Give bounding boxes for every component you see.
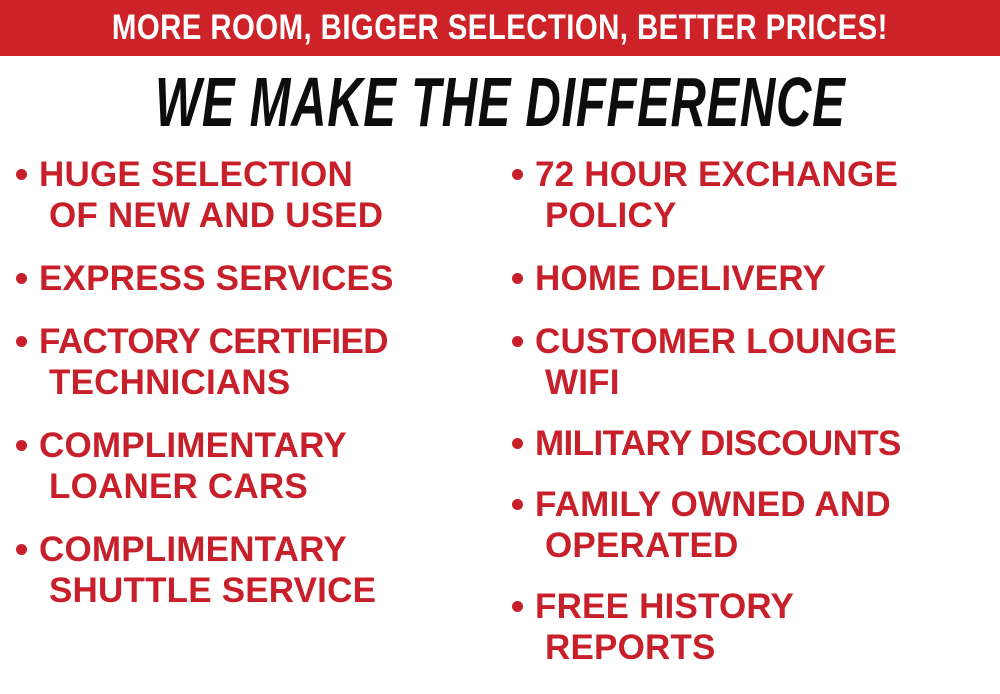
feature-item-line: FACTORY CERTIFIED [39, 321, 496, 362]
feature-list-item: COMPLIMENTARYSHUTTLE SERVICE [16, 529, 496, 611]
feature-item-line: CUSTOMER LOUNGE [535, 321, 998, 362]
bullet-dot-icon [512, 499, 523, 510]
feature-item-lines: COMPLIMENTARYLOANER CARS [39, 425, 496, 507]
feature-item-lines: FACTORY CERTIFIEDTECHNICIANS [39, 321, 496, 403]
feature-item-line: LOANER CARS [39, 466, 496, 507]
bullet-dot-icon [16, 440, 27, 451]
bullet-dot-icon [512, 601, 523, 612]
feature-list-item: CUSTOMER LOUNGEWIFI [512, 321, 998, 403]
feature-item-lines: MILITARY DISCOUNTS [535, 423, 998, 464]
page-title: WE MAKE THE DIFFERENCE [155, 66, 846, 138]
feature-list-item: FAMILY OWNED ANDOPERATED [512, 484, 998, 566]
feature-list-item: HOME DELIVERY [512, 258, 998, 299]
feature-list-item: FACTORY CERTIFIEDTECHNICIANS [16, 321, 496, 403]
feature-list-item: 72 HOUR EXCHANGEPOLICY [512, 154, 998, 236]
feature-item-line: EXPRESS SERVICES [39, 258, 496, 299]
feature-item-line: OPERATED [535, 525, 998, 566]
feature-item-line: OF NEW AND USED [39, 195, 496, 236]
feature-item-line: FREE HISTORY [535, 586, 998, 627]
feature-list-item: MILITARY DISCOUNTS [512, 423, 998, 464]
feature-list-item: COMPLIMENTARYLOANER CARS [16, 425, 496, 507]
feature-item-line: REPORTS [535, 627, 998, 668]
feature-item-line: FAMILY OWNED AND [535, 484, 998, 525]
bullet-dot-icon [16, 169, 27, 180]
features-columns: HUGE SELECTIONOF NEW AND USEDEXPRESS SER… [0, 148, 1000, 694]
feature-item-line: WIFI [535, 362, 998, 403]
bullet-dot-icon [512, 273, 523, 284]
features-column-left: HUGE SELECTIONOF NEW AND USEDEXPRESS SER… [0, 154, 500, 694]
feature-item-lines: FREE HISTORYREPORTS [535, 586, 998, 668]
features-column-right: 72 HOUR EXCHANGEPOLICYHOME DELIVERYCUSTO… [500, 154, 1000, 694]
feature-list-item: HUGE SELECTIONOF NEW AND USED [16, 154, 496, 236]
feature-item-line: HOME DELIVERY [535, 258, 998, 299]
bullet-dot-icon [512, 438, 523, 449]
bullet-dot-icon [16, 273, 27, 284]
headline-container: WE MAKE THE DIFFERENCE [0, 56, 1000, 148]
feature-item-line: SHUTTLE SERVICE [39, 570, 496, 611]
feature-item-line: 72 HOUR EXCHANGE [535, 154, 998, 195]
feature-item-line: POLICY [535, 195, 998, 236]
bullet-dot-icon [512, 169, 523, 180]
feature-item-lines: COMPLIMENTARYSHUTTLE SERVICE [39, 529, 496, 611]
feature-item-line: MILITARY DISCOUNTS [535, 423, 998, 464]
feature-item-lines: CUSTOMER LOUNGEWIFI [535, 321, 998, 403]
bullet-dot-icon [16, 336, 27, 347]
promo-banner-text: MORE ROOM, BIGGER SELECTION, BETTER PRIC… [112, 10, 888, 46]
feature-item-lines: HUGE SELECTIONOF NEW AND USED [39, 154, 496, 236]
feature-item-lines: EXPRESS SERVICES [39, 258, 496, 299]
feature-item-line: COMPLIMENTARY [39, 425, 496, 466]
feature-item-lines: HOME DELIVERY [535, 258, 998, 299]
promo-banner: MORE ROOM, BIGGER SELECTION, BETTER PRIC… [0, 0, 1000, 56]
feature-item-line: TECHNICIANS [39, 362, 496, 403]
feature-item-line: COMPLIMENTARY [39, 529, 496, 570]
feature-list-item: FREE HISTORYREPORTS [512, 586, 998, 668]
feature-list-item: EXPRESS SERVICES [16, 258, 496, 299]
bullet-dot-icon [512, 336, 523, 347]
feature-item-lines: 72 HOUR EXCHANGEPOLICY [535, 154, 998, 236]
feature-item-line: HUGE SELECTION [39, 154, 496, 195]
bullet-dot-icon [16, 544, 27, 555]
feature-item-lines: FAMILY OWNED ANDOPERATED [535, 484, 998, 566]
